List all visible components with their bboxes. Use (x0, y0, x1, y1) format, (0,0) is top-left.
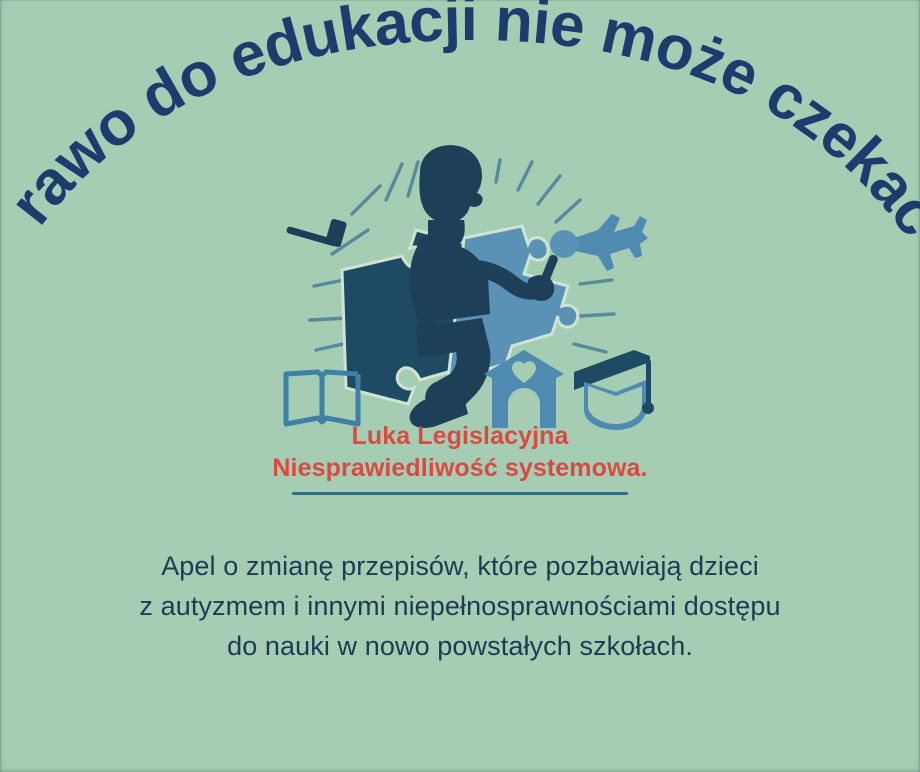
illustration-container (268, 138, 656, 430)
ray-line (408, 162, 418, 196)
hammer-icon (286, 218, 347, 247)
ray-line (496, 160, 500, 182)
graduation-cap-icon (574, 350, 654, 430)
subheading-block: Luka Legislacyjna Niesprawiedliwość syst… (0, 420, 920, 495)
ray-line (538, 176, 560, 204)
ray-line (386, 164, 402, 200)
body-paragraph: Apel o zmianę przepisów, które pozbawiaj… (0, 546, 920, 666)
ray-line (556, 200, 580, 222)
airplane-icon (568, 214, 648, 271)
ray-line (580, 314, 614, 316)
ray-line (518, 162, 532, 190)
illustration-svg (268, 138, 656, 430)
body-line-2: z autyzmem i innymi niepełnosprawnościam… (0, 586, 920, 626)
microphone-icon (550, 230, 578, 258)
body-line-1: Apel o zmianę przepisów, które pozbawiaj… (0, 546, 920, 586)
subheading-underline (292, 492, 628, 495)
ray-line (352, 186, 380, 214)
body-line-3: do nauki w nowo powstałych szkołach. (0, 626, 920, 666)
ray-line (580, 280, 612, 284)
subheading-line-1: Luka Legislacyjna (0, 420, 920, 452)
subheading-line-2: Niesprawiedliwość systemowa. (0, 452, 920, 484)
ray-line (574, 344, 606, 352)
poster-canvas: Prawo do edukacji nie może czekać! (0, 0, 920, 772)
